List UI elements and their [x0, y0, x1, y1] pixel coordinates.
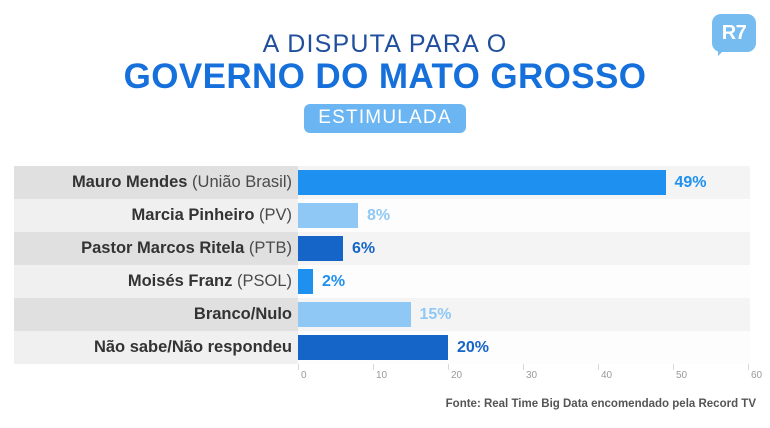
- table-row: Moisés Franz (PSOL)2%: [0, 265, 770, 298]
- axis-tick-label: 50: [676, 370, 687, 381]
- bar-value-label: 6%: [352, 232, 375, 265]
- axis-tick-label: 10: [376, 370, 387, 381]
- candidate-name: Moisés Franz: [128, 272, 233, 290]
- axis-tick: [748, 364, 749, 370]
- candidate-name: Marcia Pinheiro: [132, 206, 255, 224]
- candidate-label: Branco/Nulo: [14, 298, 292, 331]
- axis-tick: [598, 364, 599, 370]
- bar: [298, 203, 358, 228]
- axis-tick-label: 30: [526, 370, 537, 381]
- bar-chart: Mauro Mendes (União Brasil)49%Marcia Pin…: [0, 166, 770, 364]
- logo-label: R7: [712, 14, 756, 52]
- candidate-label: Moisés Franz (PSOL): [14, 265, 292, 298]
- bar: [298, 170, 666, 195]
- axis-tick: [373, 364, 374, 370]
- status-badge: ESTIMULADA: [304, 104, 465, 133]
- table-row: Branco/Nulo15%: [0, 298, 770, 331]
- x-axis: 0102030405060: [0, 364, 770, 388]
- axis-tick: [523, 364, 524, 370]
- subtitle-badge-container: ESTIMULADA: [0, 104, 770, 133]
- page-title-kicker: A DISPUTA PARA O: [0, 30, 770, 59]
- bar: [298, 335, 448, 360]
- bar-value-label: 20%: [457, 331, 489, 364]
- bar-value-label: 15%: [420, 298, 452, 331]
- candidate-party: (PV): [254, 206, 292, 224]
- candidate-party: (PTB): [244, 239, 292, 257]
- axis-tick: [448, 364, 449, 370]
- table-row: Marcia Pinheiro (PV)8%: [0, 199, 770, 232]
- candidate-name: Pastor Marcos Ritela: [81, 239, 244, 257]
- table-row: Não sabe/Não respondeu20%: [0, 331, 770, 364]
- bar-value-label: 49%: [675, 166, 707, 199]
- candidate-name: Não sabe/Não respondeu: [94, 338, 292, 356]
- r7-logo: R7: [712, 14, 756, 58]
- row-plot-background: [298, 199, 750, 232]
- table-row: Pastor Marcos Ritela (PTB)6%: [0, 232, 770, 265]
- candidate-label: Mauro Mendes (União Brasil): [14, 166, 292, 199]
- candidate-label: Marcia Pinheiro (PV): [14, 199, 292, 232]
- axis-tick-label: 60: [751, 370, 762, 381]
- source-note: Fonte: Real Time Big Data encomendado pe…: [0, 398, 756, 410]
- candidate-party: (PSOL): [232, 272, 292, 290]
- axis-tick-label: 0: [301, 370, 307, 381]
- bar: [298, 269, 313, 294]
- chart-header: A DISPUTA PARA O GOVERNO DO MATO GROSSO …: [0, 0, 770, 140]
- candidate-name: Branco/Nulo: [194, 305, 292, 323]
- axis-tick: [673, 364, 674, 370]
- axis-tick: [298, 364, 299, 370]
- page-title: GOVERNO DO MATO GROSSO: [0, 57, 770, 97]
- bar-value-label: 2%: [322, 265, 345, 298]
- candidate-party: (União Brasil): [187, 173, 292, 191]
- bar: [298, 236, 343, 261]
- candidate-label: Pastor Marcos Ritela (PTB): [14, 232, 292, 265]
- bar-value-label: 8%: [367, 199, 390, 232]
- table-row: Mauro Mendes (União Brasil)49%: [0, 166, 770, 199]
- axis-tick-label: 20: [451, 370, 462, 381]
- candidate-label: Não sabe/Não respondeu: [14, 331, 292, 364]
- axis-tick-label: 40: [601, 370, 612, 381]
- bar: [298, 302, 411, 327]
- candidate-name: Mauro Mendes: [72, 173, 188, 191]
- row-plot-background: [298, 265, 750, 298]
